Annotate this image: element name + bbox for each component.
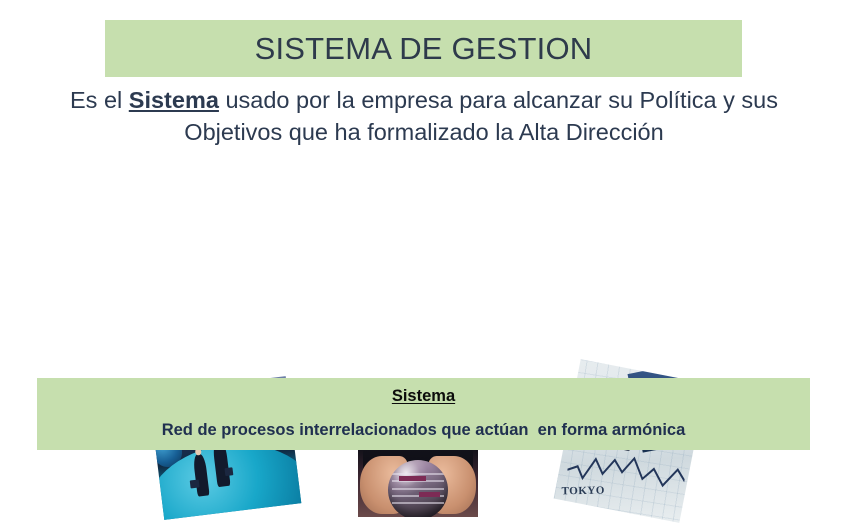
subtitle-paragraph: Es el Sistema usado por la empresa para … xyxy=(24,84,824,148)
briefcase-right xyxy=(225,468,233,477)
tokyo-label: TOKYO xyxy=(562,485,605,498)
page-title: SISTEMA DE GESTION xyxy=(255,31,593,67)
title-banner: SISTEMA DE GESTION xyxy=(105,20,742,77)
briefcase-left xyxy=(190,480,199,489)
images-row: TOKYO New York xyxy=(0,180,848,350)
crystal-ball-shape xyxy=(388,460,448,517)
definition-box: Sistema Red de procesos interrelacionado… xyxy=(37,378,810,450)
subtitle-emphasis: Sistema xyxy=(129,87,219,113)
slide-canvas: SISTEMA DE GESTION Es el Sistema usado p… xyxy=(0,0,848,477)
definition-description: Red de procesos interrelacionados que ac… xyxy=(37,421,810,440)
subtitle-rest: usado por la empresa para alcanzar su Po… xyxy=(184,87,778,145)
subtitle-lead: Es el xyxy=(70,87,129,113)
definition-term: Sistema xyxy=(37,387,810,406)
